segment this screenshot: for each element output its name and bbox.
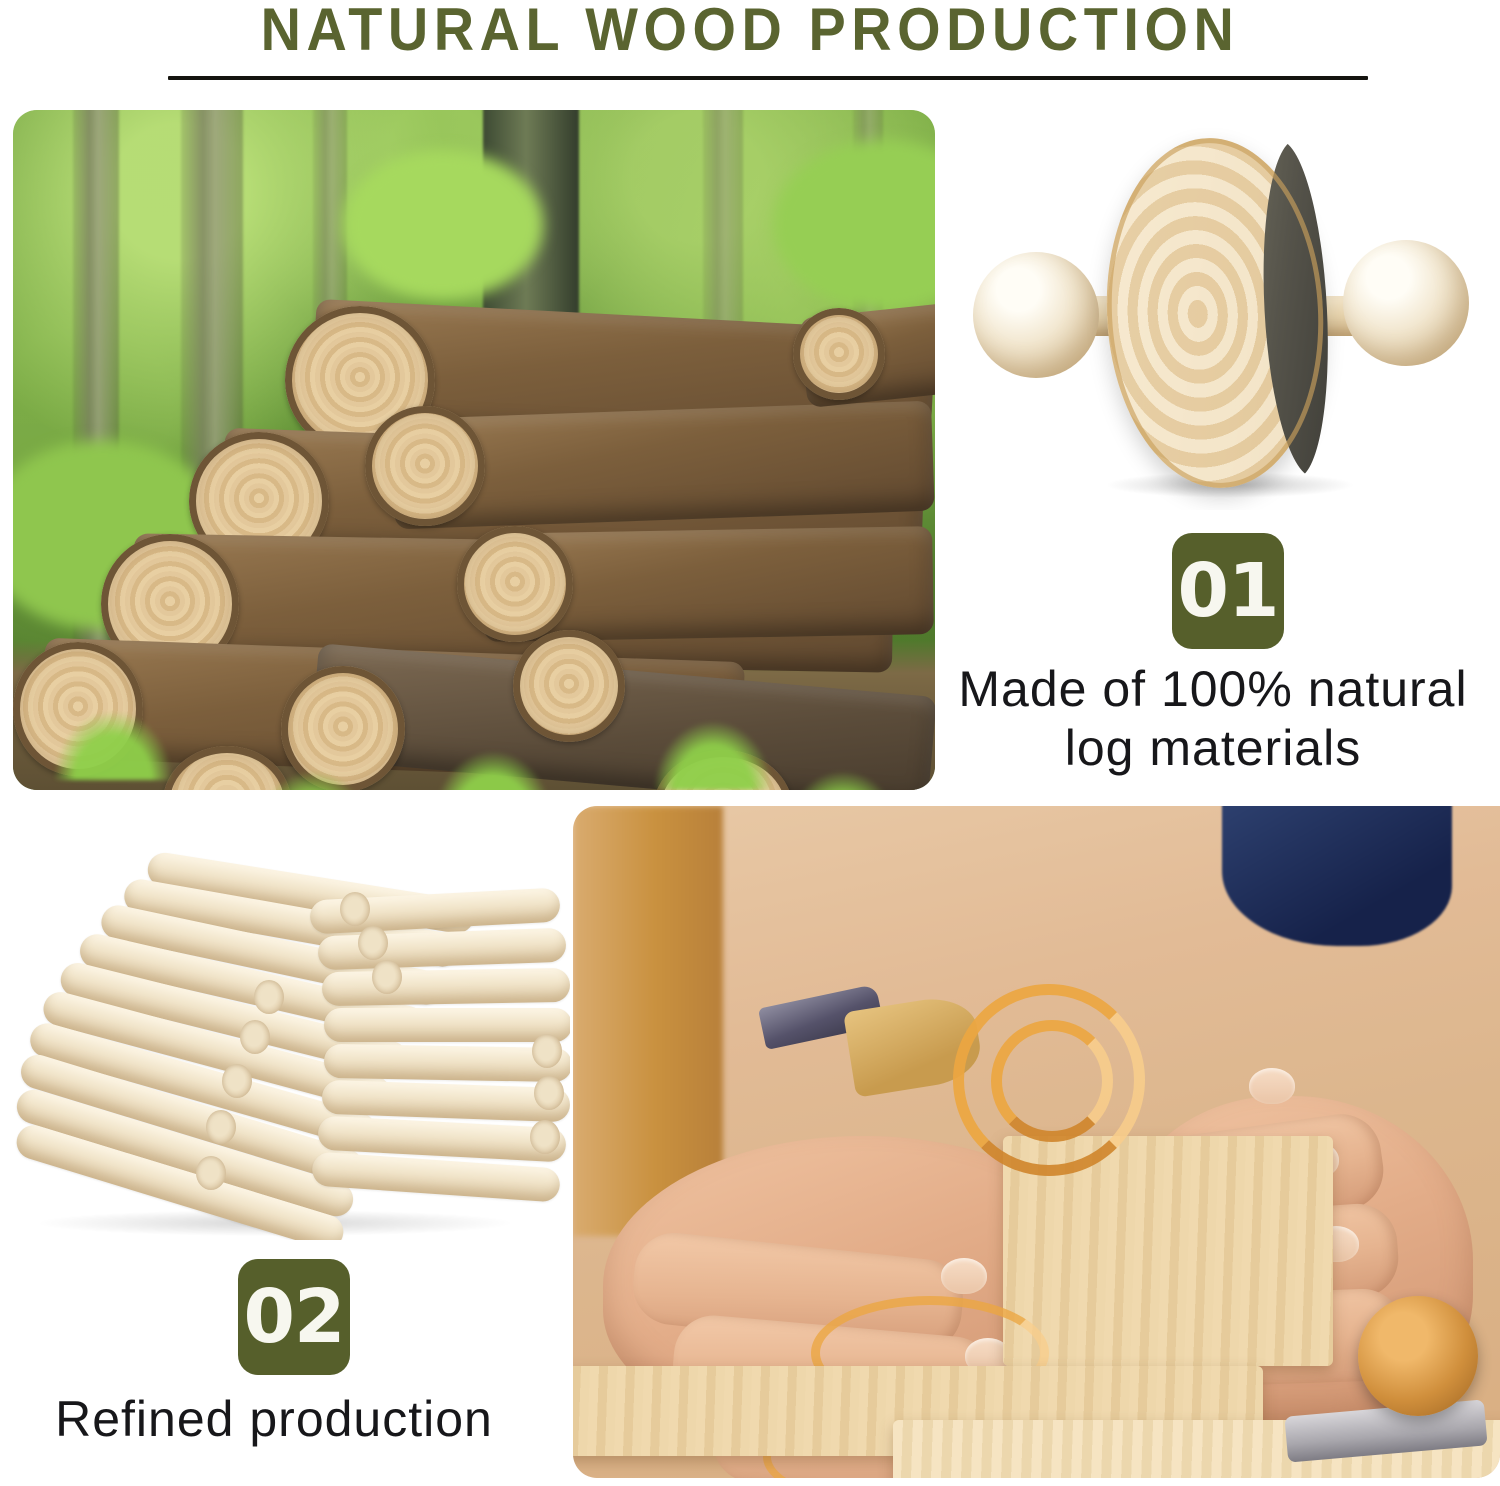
shirt-sleeve bbox=[1222, 806, 1452, 946]
title-divider bbox=[168, 76, 1368, 80]
foliage bbox=[343, 150, 543, 300]
dowel-end-cap bbox=[358, 926, 388, 960]
dowel-end-cap bbox=[532, 1034, 562, 1068]
feature-caption-01-line2: log materials bbox=[930, 719, 1496, 778]
dowel-end-cap bbox=[340, 892, 370, 926]
fingernail bbox=[1249, 1068, 1295, 1104]
dowel-end-cap bbox=[206, 1110, 236, 1144]
woodworking-hands-photo bbox=[573, 806, 1500, 1478]
hand-plane-knob bbox=[1358, 1296, 1478, 1416]
bridge-dowel bbox=[324, 1008, 570, 1042]
wood-shaving-curl bbox=[991, 1020, 1113, 1142]
stacked-logs-in-forest-photo bbox=[13, 110, 935, 790]
dowel-end-cap bbox=[530, 1120, 560, 1154]
dowel-end-cap bbox=[196, 1156, 226, 1190]
undergrowth bbox=[783, 770, 903, 790]
wooden-dowel-bridge-photo bbox=[10, 820, 570, 1240]
feature-caption-02-line1: Refined production bbox=[14, 1390, 534, 1449]
feature-caption-01-line1: Made of 100% natural bbox=[930, 660, 1496, 719]
page-title: NATURAL WOOD PRODUCTION bbox=[53, 0, 1448, 62]
undergrowth bbox=[53, 710, 173, 780]
feature-caption-01: Made of 100% natural log materials bbox=[930, 660, 1496, 778]
undergrowth bbox=[433, 750, 553, 790]
toy-wooden-ball bbox=[1343, 240, 1469, 366]
dowel-end-cap bbox=[222, 1064, 252, 1098]
log-cut-end bbox=[365, 406, 485, 526]
log-cut-end bbox=[793, 308, 885, 400]
log-cut-end bbox=[457, 526, 573, 642]
dowel-end-cap bbox=[254, 980, 284, 1014]
feature-badge-02: 02 bbox=[238, 1259, 350, 1375]
toy-wooden-ball bbox=[973, 252, 1099, 378]
bridge-dowel bbox=[322, 968, 570, 1006]
header: NATURAL WOOD PRODUCTION bbox=[0, 0, 1500, 96]
fingernail bbox=[941, 1258, 987, 1294]
bridge-dowel bbox=[317, 928, 566, 971]
dowel-end-cap bbox=[240, 1020, 270, 1054]
log-cut-end bbox=[513, 630, 625, 742]
undergrowth bbox=[653, 720, 773, 790]
undergrowth bbox=[253, 770, 373, 790]
toy-log-slice-disc bbox=[1098, 133, 1332, 494]
feature-badge-01: 01 bbox=[1172, 533, 1284, 649]
dowel-end-cap bbox=[534, 1076, 564, 1110]
feature-caption-02: Refined production bbox=[14, 1390, 534, 1449]
dowel-end-cap bbox=[372, 960, 402, 994]
wooden-dumbbell-toy-photo bbox=[955, 120, 1495, 510]
